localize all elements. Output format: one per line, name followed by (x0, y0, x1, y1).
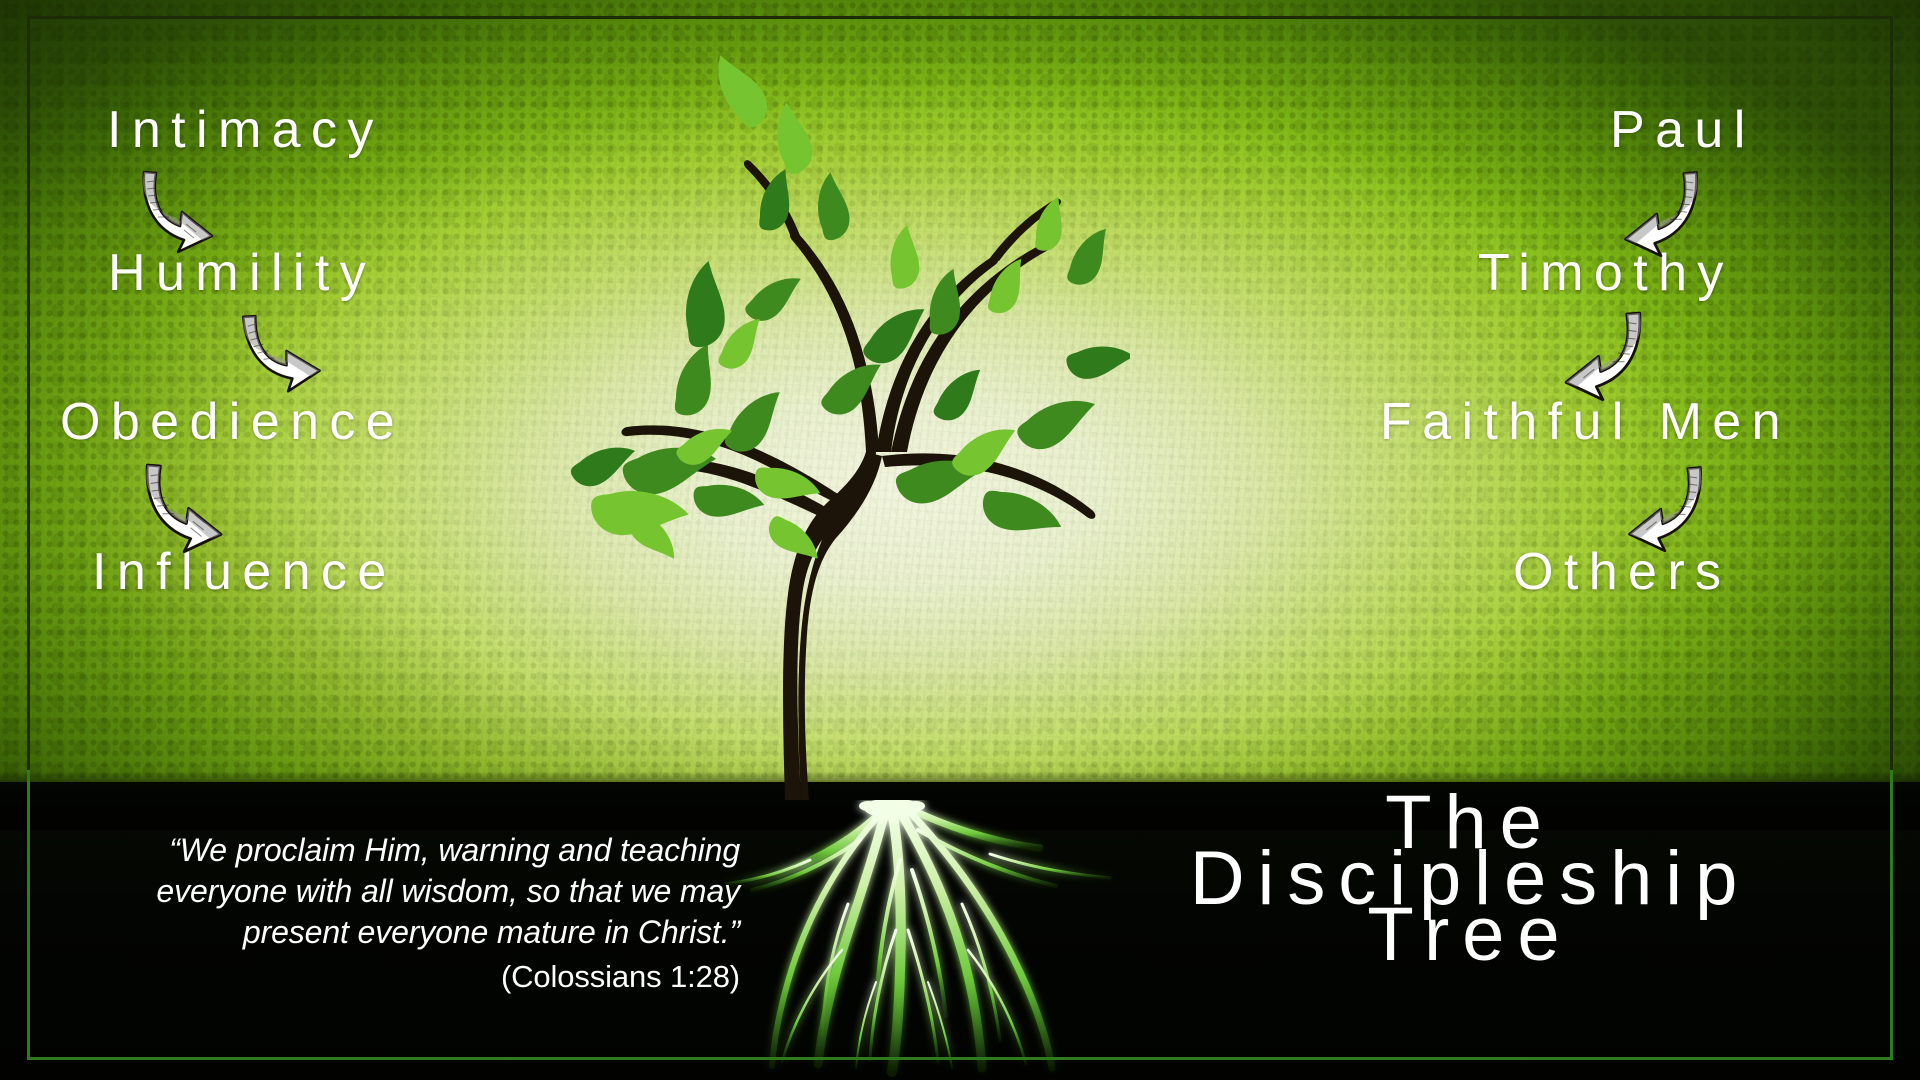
left-label-intimacy: Intimacy (107, 100, 384, 160)
slide-canvas: Intimacy Humility (0, 0, 1920, 1080)
tree-illustration (430, 0, 1130, 800)
curved-down-arrow-icon (232, 300, 328, 396)
curved-down-arrow-icon (1617, 455, 1717, 555)
left-label-obedience: Obedience (60, 392, 405, 452)
quote-line-2: everyone with all wisdom, so that we may (156, 873, 740, 909)
quote-line-1: “We proclaim Him, warning and teaching (169, 832, 740, 868)
curved-down-arrow-icon (1553, 300, 1657, 404)
scripture-quote: “We proclaim Him, warning and teaching e… (60, 830, 740, 997)
curved-down-arrow-icon (130, 452, 234, 556)
curved-down-arrow-icon (1613, 160, 1713, 260)
quote-reference: (Colossians 1:28) (60, 957, 740, 997)
right-label-paul: Paul (1610, 100, 1756, 160)
quote-line-3: present everyone mature in Christ.” (243, 914, 740, 950)
curved-down-arrow-icon (128, 160, 224, 256)
page-title: The Discipleship Tree (1070, 795, 1870, 964)
